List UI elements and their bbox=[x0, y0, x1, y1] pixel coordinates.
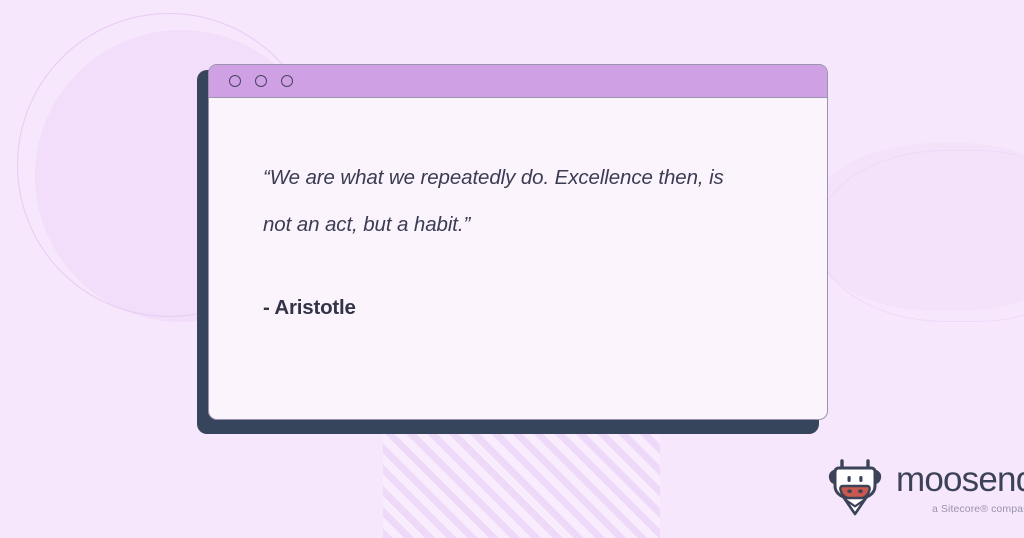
moosend-cow-icon bbox=[826, 456, 884, 518]
window-content: “We are what we repeatedly do. Excellenc… bbox=[209, 98, 827, 320]
minimize-dot-icon[interactable] bbox=[255, 75, 267, 87]
logo-text: moosend a Sitecore® company bbox=[896, 460, 1024, 515]
decorative-diagonal-hatch bbox=[383, 434, 660, 538]
slide-canvas: “We are what we repeatedly do. Excellenc… bbox=[0, 0, 1024, 538]
decorative-blob-outline bbox=[816, 150, 1024, 322]
decorative-blob-filled bbox=[804, 143, 1024, 311]
quote-text: “We are what we repeatedly do. Excellenc… bbox=[263, 154, 743, 248]
logo-tagline: a Sitecore® company bbox=[932, 503, 1024, 515]
moosend-wordmark: moosend bbox=[896, 462, 1024, 497]
close-dot-icon[interactable] bbox=[229, 75, 241, 87]
quote-author: - Aristotle bbox=[263, 296, 827, 320]
moosend-logo: moosend a Sitecore® company bbox=[826, 456, 1024, 518]
window-titlebar[interactable] bbox=[209, 65, 827, 98]
window-frame: “We are what we repeatedly do. Excellenc… bbox=[208, 64, 828, 420]
browser-window: “We are what we repeatedly do. Excellenc… bbox=[197, 64, 829, 428]
maximize-dot-icon[interactable] bbox=[281, 75, 293, 87]
